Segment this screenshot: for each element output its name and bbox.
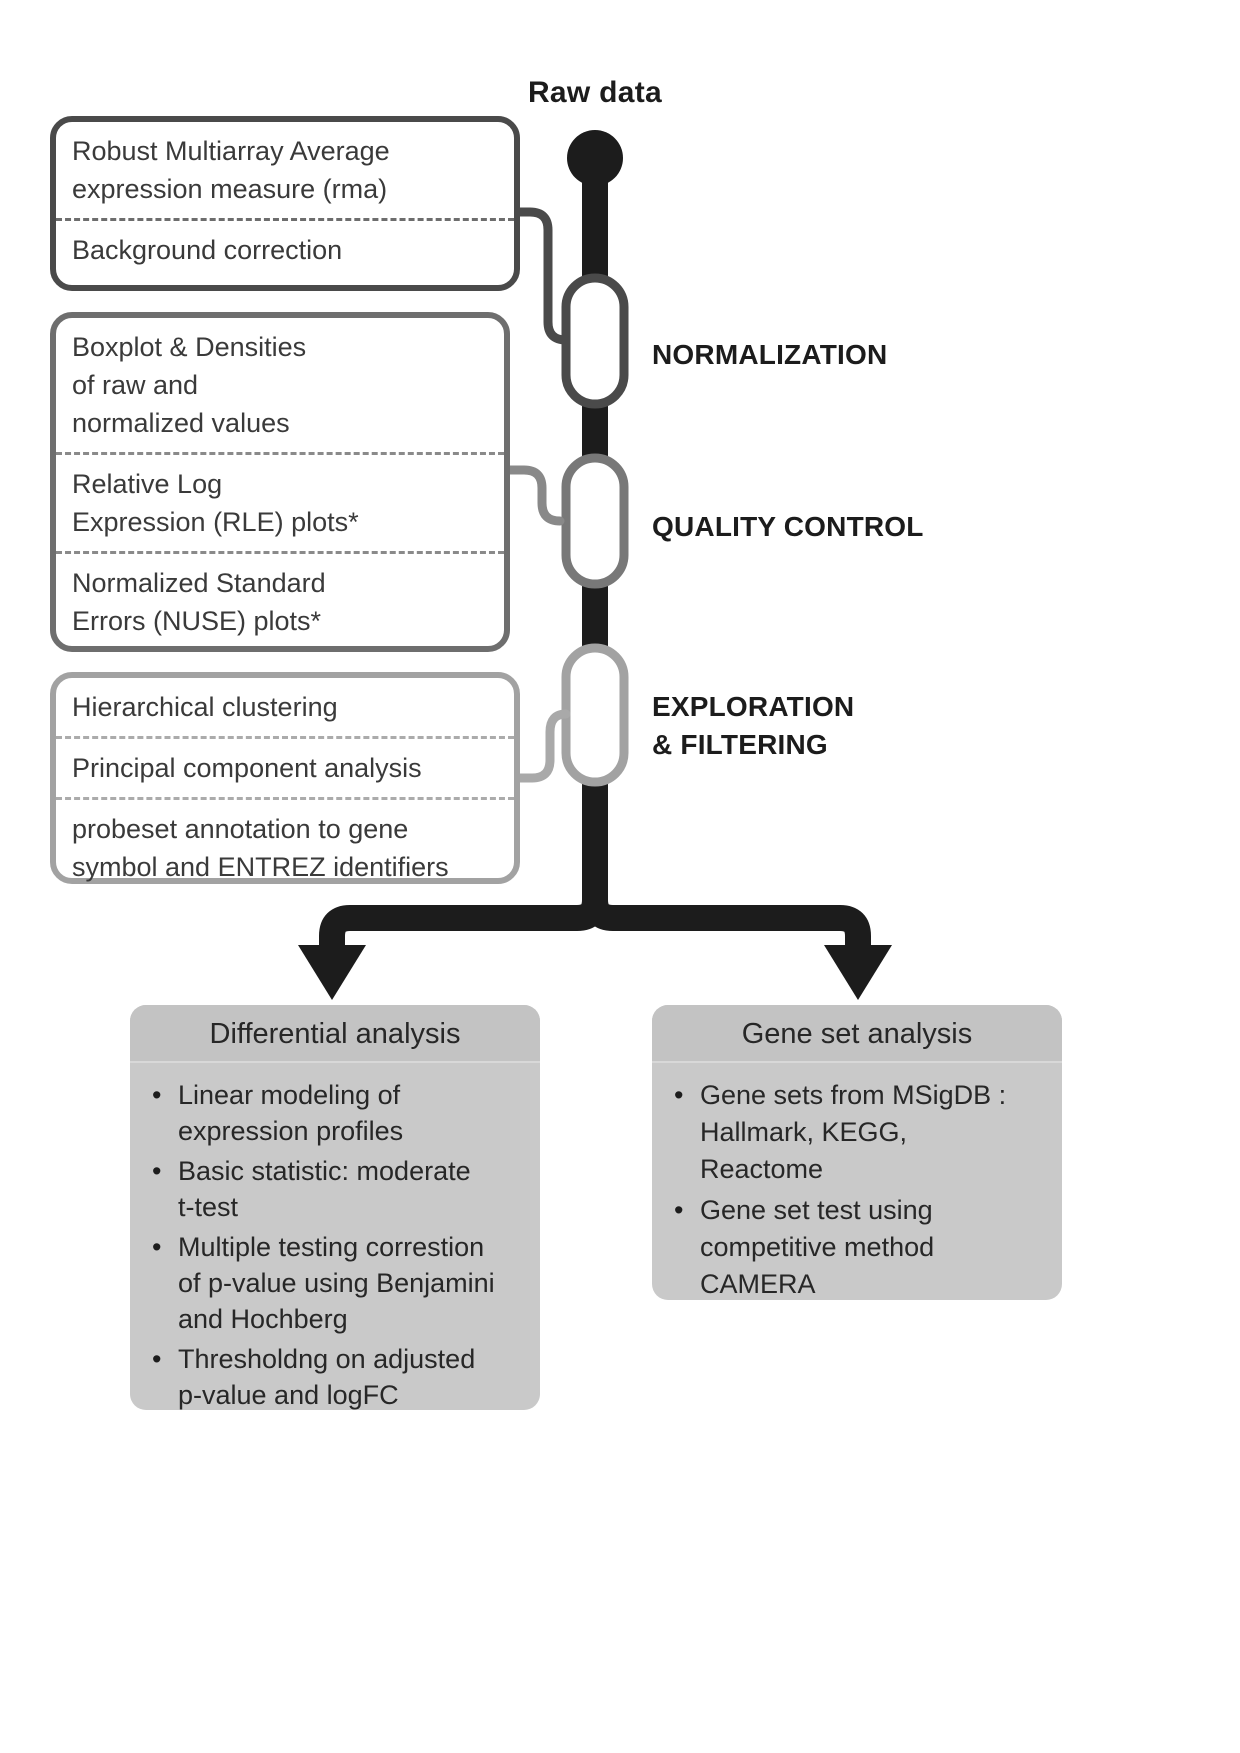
stage-row: Normalized Standard Errors (NUSE) plots* <box>56 551 504 650</box>
spine-segment-bottom <box>582 780 608 902</box>
panel-bullet-list: Linear modeling of expression profiles B… <box>130 1063 540 1410</box>
arrow-head-right <box>824 945 892 1000</box>
output-panel-differential-analysis[interactable]: Differential analysis Linear modeling of… <box>130 1005 540 1410</box>
split-connector <box>298 884 892 1000</box>
stage-row: Robust Multiarray Average expression mea… <box>56 122 514 218</box>
stage-row: Boxplot & Densities of raw and normalize… <box>56 318 504 452</box>
stage-row: probeset annotation to gene symbol and E… <box>56 797 514 896</box>
page-title: Raw data <box>470 76 720 110</box>
connector-exploration <box>514 714 566 778</box>
stage-row: Hierarchical clustering <box>56 678 514 736</box>
arrow-head-left <box>298 945 366 1000</box>
list-item: Basic statistic: moderate t-test <box>150 1153 526 1225</box>
panel-bullet-list: Gene sets from MSigDB : Hallmark, KEGG, … <box>652 1063 1062 1300</box>
output-panel-gene-set-analysis[interactable]: Gene set analysis Gene sets from MSigDB … <box>652 1005 1062 1300</box>
stage-pill-quality-control <box>506 458 624 584</box>
list-item: Linear modeling of expression profiles <box>150 1077 526 1149</box>
list-item: Multiple testing correstion of p-value u… <box>150 1229 526 1337</box>
stage-card-exploration[interactable]: Hierarchical clustering Principal compon… <box>50 672 520 884</box>
stage-pill-exploration <box>514 648 624 782</box>
flowchart-canvas: Raw data Robust Multiarray Average expre… <box>0 0 1240 1753</box>
stage-card-normalization[interactable]: Robust Multiarray Average expression mea… <box>50 116 520 291</box>
stage-row: Background correction <box>56 218 514 279</box>
stage-row: Principal component analysis <box>56 736 514 797</box>
list-item: Gene set test using competitive method C… <box>672 1192 1048 1300</box>
list-item: Gene sets from MSigDB : Hallmark, KEGG, … <box>672 1077 1048 1188</box>
panel-title: Differential analysis <box>130 1005 540 1063</box>
connector-normalization <box>512 212 566 340</box>
stage-label-exploration: EXPLORATION & FILTERING <box>652 688 854 764</box>
panel-title: Gene set analysis <box>652 1005 1062 1063</box>
stage-label-normalization: NORMALIZATION <box>652 336 887 374</box>
stage-label-quality-control: QUALITY CONTROL <box>652 508 924 546</box>
list-item: Thresholdng on adjusted p-value and logF… <box>150 1341 526 1410</box>
connector-quality-control <box>506 470 560 521</box>
stage-card-quality-control[interactable]: Boxplot & Densities of raw and normalize… <box>50 312 510 652</box>
raw-data-node <box>567 130 623 186</box>
stage-row: Relative Log Expression (RLE) plots* <box>56 452 504 551</box>
